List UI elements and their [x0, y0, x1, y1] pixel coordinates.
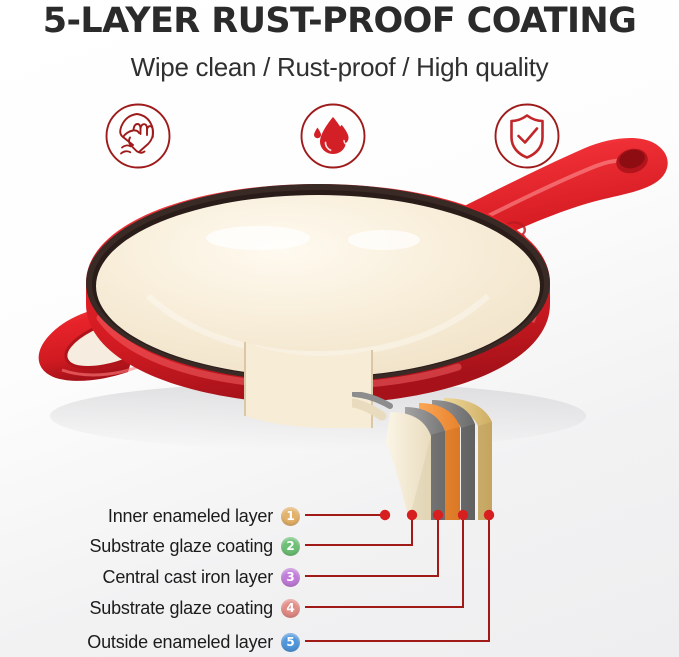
- layer-callout-list: Inner enameled layer 1 Substrate glaze c…: [0, 496, 679, 657]
- pan-interior: [96, 195, 540, 377]
- page-subtitle: Wipe clean / Rust-proof / High quality: [0, 52, 679, 83]
- layer-callout-1: Inner enameled layer 1: [0, 504, 300, 528]
- layer-number-badge-2: 2: [281, 537, 300, 556]
- layer-label-5: Outside enameled layer: [87, 632, 273, 653]
- layer-label-2: Substrate glaze coating: [89, 536, 273, 557]
- layer-number-badge-5: 5: [281, 633, 300, 652]
- layer-callout-3: Central cast iron layer 3: [0, 565, 300, 589]
- page-title: 5-LAYER RUST-PROOF COATING: [0, 1, 679, 41]
- layer-label-4: Substrate glaze coating: [89, 598, 273, 619]
- layer-label-1: Inner enameled layer: [108, 506, 273, 527]
- layer-number-badge-4: 4: [281, 599, 300, 618]
- product-infographic: 5-LAYER RUST-PROOF COATING Wipe clean / …: [0, 0, 679, 657]
- skillet-illustration: [0, 128, 679, 488]
- layer-callout-4: Substrate glaze coating 4: [0, 596, 300, 620]
- layer-number-badge-3: 3: [281, 568, 300, 587]
- layer-label-3: Central cast iron layer: [103, 567, 273, 588]
- layer-callout-5: Outside enameled layer 5: [0, 630, 300, 654]
- layer-callout-2: Substrate glaze coating 2: [0, 534, 300, 558]
- layer-number-badge-1: 1: [281, 507, 300, 526]
